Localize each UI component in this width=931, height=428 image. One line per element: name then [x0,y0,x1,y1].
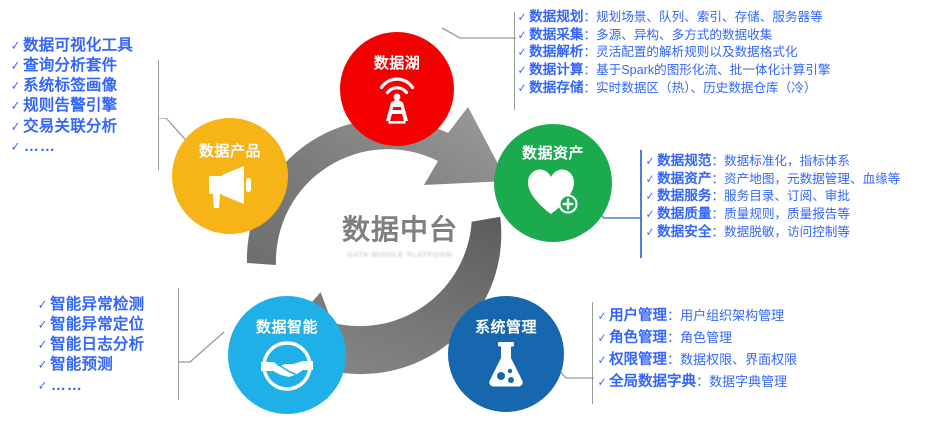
check-icon: ✓ [646,154,655,170]
check-icon: ✓ [518,28,527,44]
list-item: ✓智能预测 [37,355,144,375]
list-data-intel: ✓智能异常检测 ✓智能异常定位 ✓智能日志分析 ✓智能预测 ✓…… [37,295,144,395]
check-icon: ✓ [518,45,527,61]
list-item: ✓智能异常检测 [37,295,144,315]
list-data-asset: ✓数据规范：数据标准化，指标体系 ✓数据资产：资产地图，元数据管理、血缘等 ✓数… [645,152,900,240]
check-icon: ✓ [11,38,20,55]
check-icon: ✓ [11,98,20,115]
list-item: ✓数据解析：灵活配置的解析规则以及数据格式化 [517,43,830,61]
check-icon: ✓ [646,225,655,241]
check-icon: ✓ [518,10,527,26]
connector-line-data-product [158,60,159,170]
list-item: ✓交易关联分析 [10,117,133,137]
check-icon: ✓ [38,337,47,354]
list-item: ✓全局数据字典：数据字典管理 [597,371,797,393]
list-item: ✓用户管理：用户组织架构管理 [597,305,797,327]
list-data-lake: ✓数据规划：规划场景、队列、索引、存储、服务器等 ✓数据采集：多源、异构、多方式… [517,8,830,96]
check-icon: ✓ [598,352,607,369]
list-item: ✓数据服务：服务目录、订阅、审批 [645,187,900,205]
check-icon: ✓ [646,189,655,205]
connector-leader-data-lake [440,26,518,48]
node-data-intel[interactable]: 数据智能 [228,296,346,414]
list-item: ✓数据可视化工具 [10,36,133,56]
check-icon: ✓ [11,58,20,75]
node-system-mgmt[interactable]: 系统管理 [448,296,564,412]
list-item: ✓查询分析套件 [10,56,133,76]
center-title: 数据中台 [300,208,500,248]
center-subtitle: DATA MIDDLE PLATFORM [300,252,500,259]
check-icon: ✓ [598,330,607,347]
connector-line-data-asset [640,150,642,258]
list-item: ✓角色管理：角色管理 [597,327,797,349]
list-item: ✓数据资产：资产地图，元数据管理、血缘等 [645,170,900,188]
list-item: ✓智能日志分析 [37,335,144,355]
check-icon: ✓ [598,308,607,325]
list-item: ✓数据存储：实时数据区（热）、历史数据仓库（冷） [517,79,830,97]
list-item: ✓数据计算：基于Spark的图形化流、批一体化计算引擎 [517,61,830,79]
check-icon: ✓ [518,63,527,79]
list-item: ✓权限管理：数据权限、界面权限 [597,349,797,371]
check-icon: ✓ [518,81,527,97]
node-system-mgmt-label: 系统管理 [475,316,537,337]
check-icon: ✓ [11,78,20,95]
check-icon: ✓ [646,207,655,223]
connector-line-data-intel [178,288,179,400]
check-icon: ✓ [38,378,48,395]
list-item: ✓规则告警引擎 [10,96,133,116]
node-data-lake[interactable]: 数据湖 [340,32,454,146]
check-icon: ✓ [38,357,47,374]
handshake-icon [259,340,315,392]
check-icon: ✓ [598,374,607,391]
check-icon: ✓ [38,317,47,334]
check-icon: ✓ [646,172,655,188]
list-item: ✓数据采集：多源、异构、多方式的数据收集 [517,26,830,44]
list-item: ✓数据规范：数据标准化，指标体系 [645,152,900,170]
list-data-product: ✓数据可视化工具 ✓查询分析套件 ✓系统标签画像 ✓规则告警引擎 ✓交易关联分析… [10,36,133,156]
center-label: 数据中台 DATA MIDDLE PLATFORM [300,208,500,259]
check-icon: ✓ [38,297,47,314]
node-data-product[interactable]: 数据产品 [172,118,288,234]
check-icon: ✓ [11,119,20,136]
connector-line-system-mgmt [592,302,593,404]
node-data-asset-label: 数据资产 [522,142,584,163]
list-item: ✓数据质量：质量规则，质量报告等 [645,205,900,223]
node-data-product-label: 数据产品 [199,140,261,161]
megaphone-icon [204,164,256,210]
check-icon: ✓ [11,139,21,156]
list-item: ✓智能异常定位 [37,315,144,335]
list-system-mgmt: ✓用户管理：用户组织架构管理 ✓角色管理：角色管理 ✓权限管理：数据权限、界面权… [597,305,797,393]
flask-icon [484,340,528,388]
list-item: ✓系统标签画像 [10,76,133,96]
list-item: ✓数据安全：数据脱敏，访问控制等 [645,223,900,241]
list-item: ✓…… [37,376,144,396]
node-data-asset[interactable]: 数据资产 [494,124,612,242]
broadcast-tower-icon [374,76,420,124]
list-item: ✓数据规划：规划场景、队列、索引、存储、服务器等 [517,8,830,26]
list-item: ✓…… [10,137,133,157]
heart-plus-icon [525,166,581,216]
node-data-lake-label: 数据湖 [374,52,421,73]
diagram-canvas: 数据中台 DATA MIDDLE PLATFORM 数据湖 数据资产 [0,0,931,428]
node-data-intel-label: 数据智能 [256,316,318,337]
